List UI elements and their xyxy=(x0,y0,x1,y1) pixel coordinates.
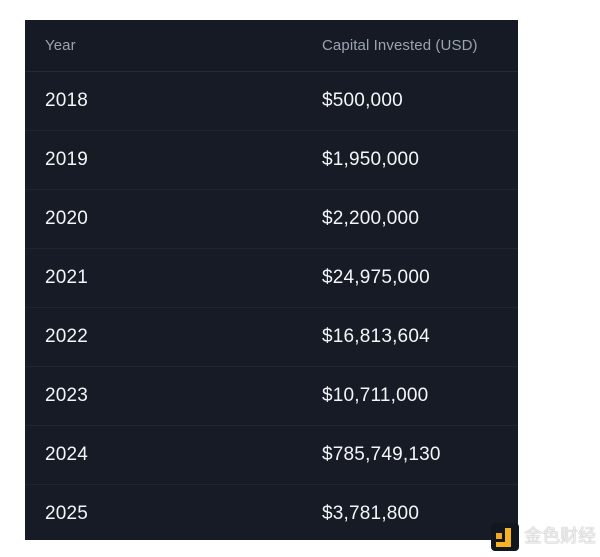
table-row[interactable]: 2022 $16,813,604 xyxy=(25,308,518,367)
table-header-row: Year Capital Invested (USD) xyxy=(25,20,518,72)
cell-year: 2020 xyxy=(25,190,303,249)
cell-value: $3,781,800 xyxy=(303,485,518,541)
cell-year: 2024 xyxy=(25,426,303,485)
cell-value: $500,000 xyxy=(303,72,518,131)
capital-invested-table: Year Capital Invested (USD) 2018 $500,00… xyxy=(25,20,518,540)
table-row[interactable]: 2018 $500,000 xyxy=(25,72,518,131)
table-row[interactable]: 2020 $2,200,000 xyxy=(25,190,518,249)
column-header-capital-invested[interactable]: Capital Invested (USD) xyxy=(303,20,518,72)
cell-value: $1,950,000 xyxy=(303,131,518,190)
cell-year: 2022 xyxy=(25,308,303,367)
table-body: 2018 $500,000 2019 $1,950,000 2020 $2,20… xyxy=(25,72,518,541)
cell-year: 2021 xyxy=(25,249,303,308)
table-row[interactable]: 2024 $785,749,130 xyxy=(25,426,518,485)
watermark-text: 金色财经 xyxy=(524,528,596,546)
cell-year: 2018 xyxy=(25,72,303,131)
cell-value: $24,975,000 xyxy=(303,249,518,308)
capital-invested-table-card: Year Capital Invested (USD) 2018 $500,00… xyxy=(25,20,518,540)
table-row[interactable]: 2021 $24,975,000 xyxy=(25,249,518,308)
cell-value: $10,711,000 xyxy=(303,367,518,426)
cell-value: $785,749,130 xyxy=(303,426,518,485)
cell-year: 2019 xyxy=(25,131,303,190)
table-row[interactable]: 2025 $3,781,800 xyxy=(25,485,518,541)
column-header-year[interactable]: Year xyxy=(25,20,303,72)
table-row[interactable]: 2019 $1,950,000 xyxy=(25,131,518,190)
cell-value: $16,813,604 xyxy=(303,308,518,367)
cell-year: 2025 xyxy=(25,485,303,541)
table-row[interactable]: 2023 $10,711,000 xyxy=(25,367,518,426)
cell-value: $2,200,000 xyxy=(303,190,518,249)
table-header: Year Capital Invested (USD) xyxy=(25,20,518,72)
cell-year: 2023 xyxy=(25,367,303,426)
